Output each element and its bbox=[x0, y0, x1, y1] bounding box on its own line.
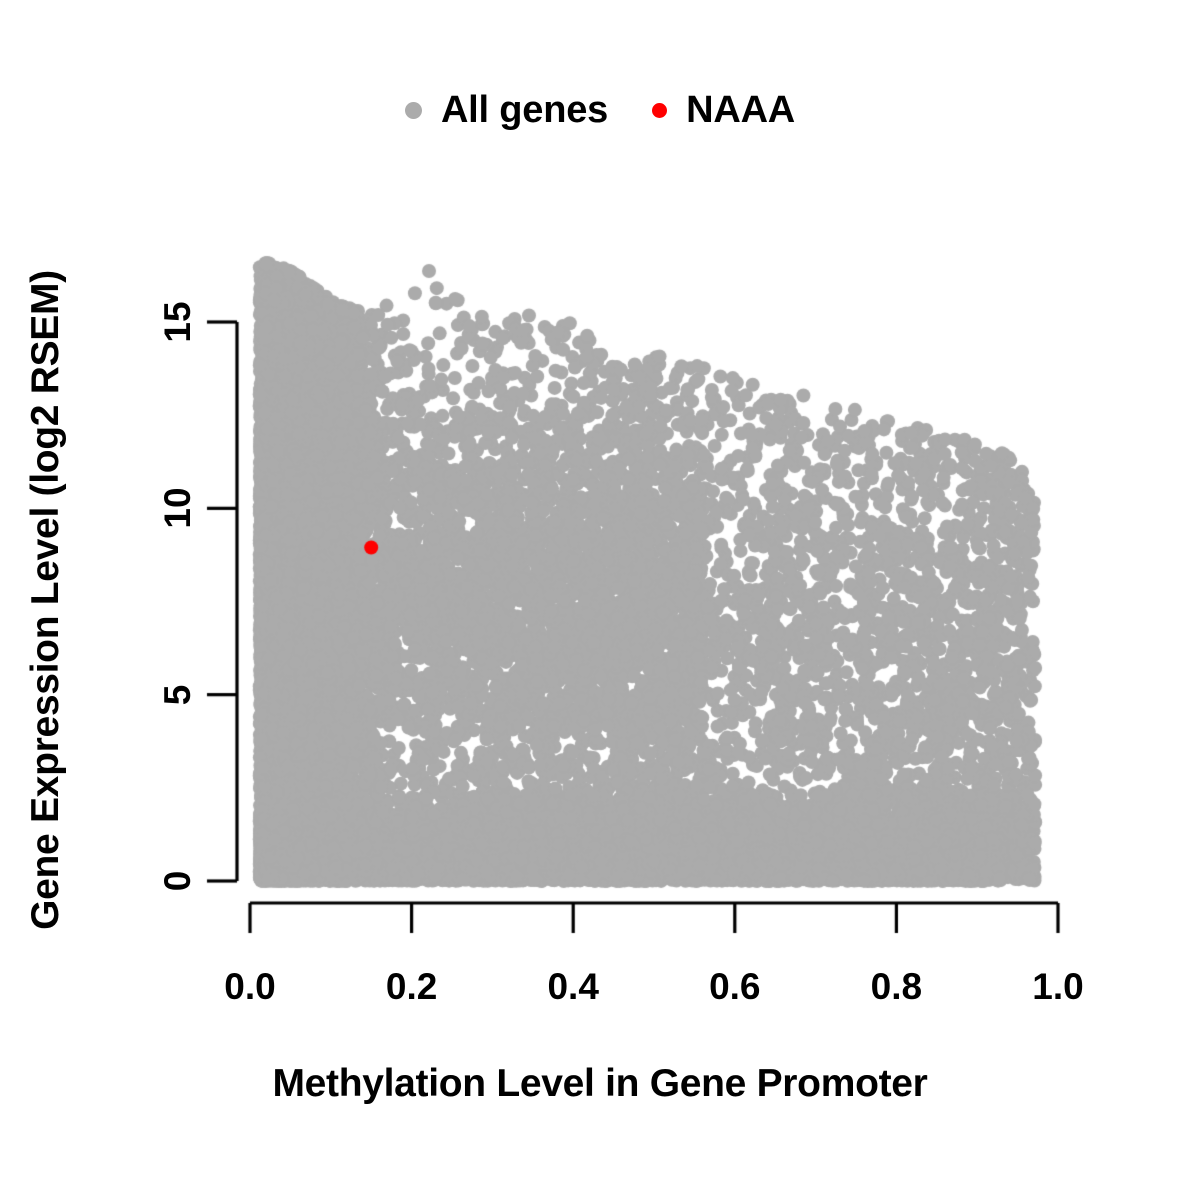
y-tick-label: 10 bbox=[157, 488, 199, 529]
x-tick-label: 1.0 bbox=[1032, 966, 1083, 1008]
y-tick-label: 15 bbox=[157, 301, 199, 342]
legend-entry-all-genes: All genes bbox=[405, 91, 608, 129]
x-tick-label: 0.2 bbox=[386, 966, 437, 1008]
scatter-plot-canvas bbox=[0, 0, 1200, 1200]
x-tick-label: 0.6 bbox=[709, 966, 760, 1008]
x-tick-label: 0.0 bbox=[224, 966, 275, 1008]
y-tick-label: 0 bbox=[157, 871, 199, 892]
legend-marker-naaa-icon bbox=[652, 103, 667, 118]
legend-label-naaa: NAAA bbox=[686, 91, 795, 129]
x-axis-title: Methylation Level in Gene Promoter bbox=[0, 1062, 1200, 1106]
y-tick-label: 5 bbox=[157, 684, 199, 705]
x-tick-label: 0.8 bbox=[871, 966, 922, 1008]
legend-label-all-genes: All genes bbox=[441, 91, 608, 129]
scatter-plot-figure: All genes NAAA Methylation Level in Gene… bbox=[0, 0, 1200, 1200]
legend-entry-naaa: NAAA bbox=[652, 91, 795, 129]
legend-marker-all-genes-icon bbox=[405, 102, 422, 119]
chart-legend: All genes NAAA bbox=[0, 82, 1200, 138]
x-tick-label: 0.4 bbox=[547, 966, 598, 1008]
